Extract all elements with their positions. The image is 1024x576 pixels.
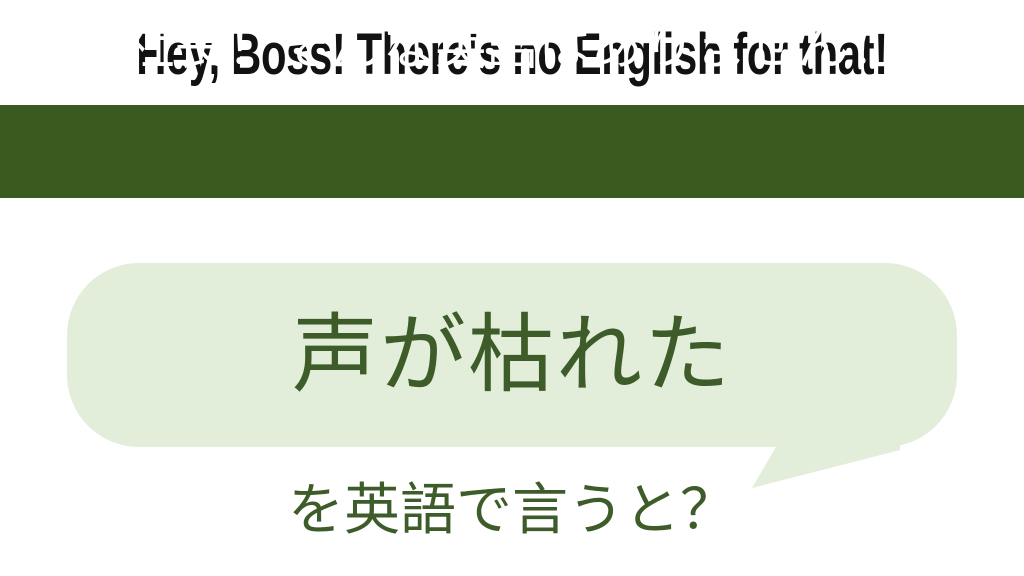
green-band — [0, 105, 1024, 198]
japanese-subtitle: 社長！そんな英語はありません！ — [0, 0, 1024, 93]
bubble-phrase: 声が枯れた — [67, 263, 957, 447]
slide-canvas: Hey, Boss! There's no English for that! … — [0, 0, 1024, 576]
bottom-prompt: を英語で言うと？ — [0, 472, 1024, 548]
